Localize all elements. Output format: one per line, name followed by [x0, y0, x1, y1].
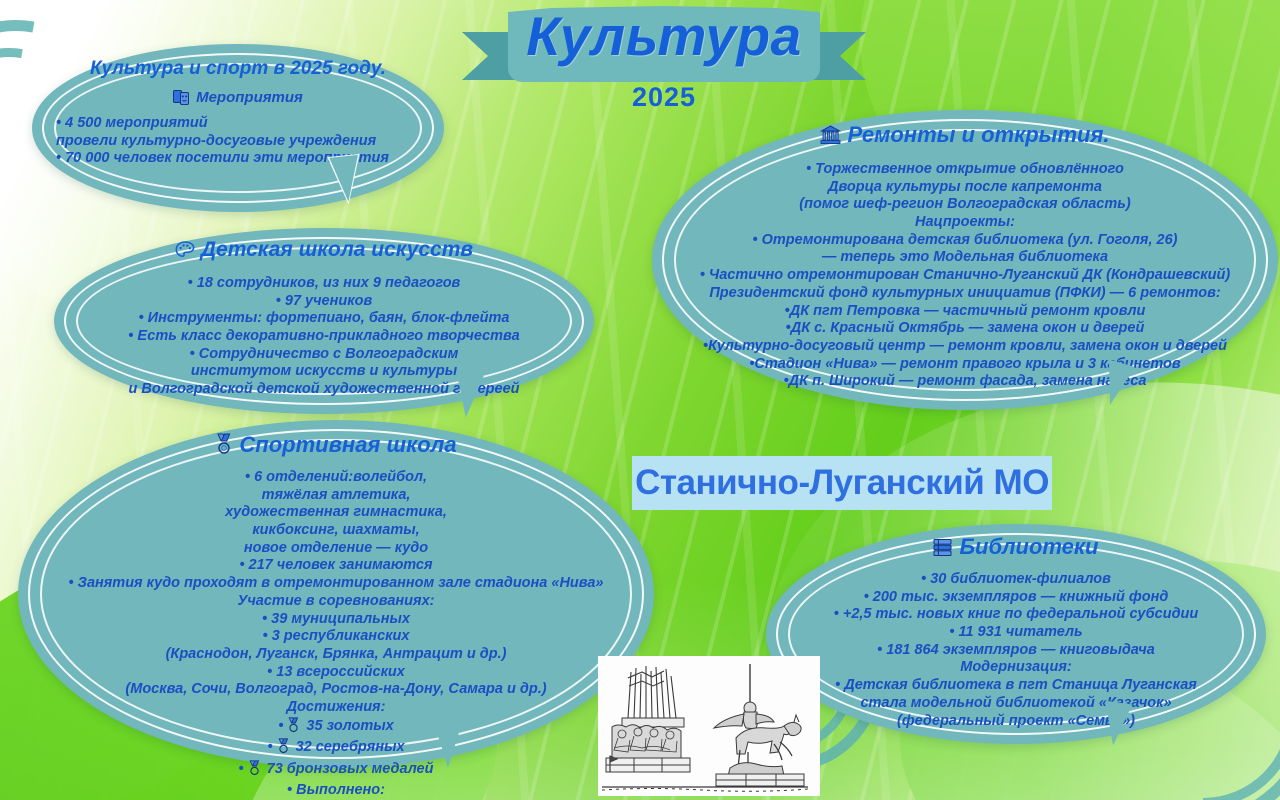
memorial-monument-illustration [598, 656, 820, 796]
bubble-repairs-line: (помог шеф-регион Волгоградская область) [652, 196, 1278, 214]
medal-label: 73 бронзовых медалей [267, 761, 434, 777]
bubble-sport-school-line: Достижения: [18, 699, 654, 717]
bubble-libraries-line: • 200 тыс. экземпляров — книжный фонд [766, 589, 1266, 607]
medal-row: • 73 бронзовых медалей [18, 760, 654, 782]
bubble-repairs-heading: Ремонты и открытия. [652, 110, 1278, 151]
bubble-repairs-line: • Торжественное открытие обновлённого [652, 161, 1278, 179]
bubble-sport-school-line: (Москва, Сочи, Волгоград, Ростов-на-Дону… [18, 681, 654, 699]
bubble-libraries-line: стала модельной библиотекой «Казачок» [766, 695, 1266, 713]
bubble-sport-school-line: • 39 муниципальных [18, 611, 654, 629]
bubble-libraries-line: • +2,5 тыс. новых книг по федеральной су… [766, 606, 1266, 624]
bubble-art-school-line: • 18 сотрудников, из них 9 педагогов [54, 275, 594, 293]
medal-label: 32 серебряных [296, 739, 405, 755]
bubble-sport-school-line: Участие в соревнованиях: [18, 593, 654, 611]
bubble-art-school-heading-text: Детская школа искусств [201, 238, 473, 261]
bubble-art-school-line: • Сотрудничество с Волгоградским [54, 346, 594, 364]
bubble-libraries-heading: Библиотеки [766, 524, 1266, 563]
bubble-art-school-line: • 97 учеников [54, 293, 594, 311]
bubble-libraries-line: • 181 864 экземпляров — книговыдача [766, 642, 1266, 660]
theater-masks-icon [173, 90, 190, 109]
bubble-repairs-line: • Частично отремонтирован Станично-Луган… [652, 267, 1278, 285]
bubble-art-school-line: • Инструменты: фортепиано, баян, блок-фл… [54, 310, 594, 328]
bubble-events-line: провели культурно-досуговые учреждения [56, 133, 444, 151]
bubble-art-school-heading: Детская школа искусств [54, 228, 594, 265]
medal-row: • 32 серебряных [18, 738, 654, 760]
bubble-repairs-line: Дворца культуры после капремонта [652, 179, 1278, 197]
bubble-sport-school-line: художественная гимнастика, [18, 504, 654, 522]
bubble-libraries-line: Модернизация: [766, 659, 1266, 677]
medal-icon [248, 760, 261, 782]
bubble-libraries-body: • 30 библиотек-филиалов • 200 тыс. экзем… [766, 571, 1266, 730]
bubble-libraries-line: (федеральный проект «Семья») [766, 713, 1266, 731]
bubble-repairs-line: •ДК п. Широкий — ремонт фасада, замена н… [652, 373, 1278, 391]
bubble-sport-school-line: новое отделение — кудо [18, 540, 654, 558]
bubble-art-school-body: • 18 сотрудников, из них 9 педагогов • 9… [54, 275, 594, 399]
bubble-repairs-line: •ДК пгт Петровка — частичный ремонт кров… [652, 303, 1278, 321]
municipality-label-text: Станично-Луганский МО [635, 463, 1049, 503]
bubble-repairs-line: Президентский фонд культурных инициатив … [652, 285, 1278, 303]
bubble-libraries-tail [1100, 701, 1133, 748]
bubble-repairs-line: Нацпроекты: [652, 214, 1278, 232]
bubble-repairs-line: •Стадион «Нива» — ремонт правого крыла и… [652, 356, 1278, 374]
bubble-sport-school-line: тяжёлая атлетика, [18, 487, 654, 505]
poster-year: 2025 [462, 82, 866, 113]
medal-icon [287, 717, 300, 739]
bubble-sport-school-tail [434, 724, 461, 767]
classical-building-icon [820, 125, 841, 151]
bubble-sport-school-footer-line: • Выполнено: [18, 782, 654, 800]
artist-palette-icon [175, 241, 195, 265]
bubble-libraries-line: • 30 библиотек-филиалов [766, 571, 1266, 589]
bubble-sport-school-heading: Спортивная школа [18, 420, 654, 461]
ribbon-banner: Культура 2025 [462, 6, 866, 88]
bubble-art-school-line: институтом искусств и культуры [54, 363, 594, 381]
bubble-libraries-heading-text: Библиотеки [959, 534, 1098, 559]
bubble-events-line: • 70 000 человек посетили эти мероприяти… [56, 150, 444, 168]
bubble-sport-school-line: • Занятия кудо проходят в отремонтирован… [18, 575, 654, 593]
sports-medal-icon [215, 433, 233, 461]
bubble-sport-school: Спортивная школа • 6 отделений:волейбол,… [18, 420, 654, 768]
bubble-sport-school-line: • 6 отделений:волейбол, [18, 469, 654, 487]
bubble-libraries-line: • 11 931 читатель [766, 624, 1266, 642]
bubble-events-subheading: Мероприятия [32, 89, 444, 109]
bubble-repairs-line: — теперь это Модельная библиотека [652, 249, 1278, 267]
bubble-sport-school-heading-text: Спортивная школа [239, 432, 456, 457]
bubble-art-school: Детская школа искусств • 18 сотрудников,… [54, 228, 594, 414]
bubble-events-tail [329, 155, 362, 203]
bubble-repairs-line: •Культурно-досуговый центр — ремонт кров… [652, 338, 1278, 356]
bubble-events-body: • 4 500 мероприятий провели культурно-до… [32, 115, 444, 168]
bubble-events-line: • 4 500 мероприятий [56, 115, 444, 133]
municipality-label: Станично-Луганский МО [632, 456, 1052, 510]
bubble-sport-school-line: (Краснодон, Луганск, Брянка, Антрацит и … [18, 646, 654, 664]
bubble-art-school-line: и Волгоградской детской художественной г… [54, 381, 594, 399]
bubble-repairs-body: • Торжественное открытие обновлённого Дв… [652, 161, 1278, 391]
poster-canvas: Культура 2025 Культура и спорт в 2025 го… [0, 0, 1280, 800]
medal-row: • 35 золотых [18, 717, 654, 739]
bubble-events-subheading-text: Мероприятия [196, 89, 303, 106]
bubble-events-heading: Культура и спорт в 2025 году. [32, 44, 444, 80]
bubble-sport-school-body: • 6 отделений:волейбол, тяжёлая атлетика… [18, 469, 654, 800]
bubble-repairs-line: •ДК с. Красный Октябрь — замена окон и д… [652, 320, 1278, 338]
medal-label: 35 золотых [306, 718, 393, 734]
bubble-art-school-tail [452, 373, 484, 419]
bubble-art-school-line: • Есть класс декоративно-прикладного тво… [54, 328, 594, 346]
bubble-sport-school-line: • 3 республиканских [18, 628, 654, 646]
bubble-repairs: Ремонты и открытия. • Торжественное откр… [652, 110, 1278, 410]
bubble-sport-school-line: • 13 всероссийских [18, 664, 654, 682]
stacked-books-icon [933, 537, 953, 563]
bubble-sport-school-line: • 217 человек занимаются [18, 557, 654, 575]
poster-title: Культура [462, 4, 866, 68]
bubble-events: Культура и спорт в 2025 году. Мероприяти… [32, 44, 444, 212]
bubble-libraries: Библиотеки • 30 библиотек-филиалов • 200… [766, 524, 1266, 744]
bubble-repairs-heading-text: Ремонты и открытия. [847, 122, 1109, 147]
bubble-sport-school-line: кикбоксинг, шахматы, [18, 522, 654, 540]
bubble-repairs-line: • Отремонтирована детская библиотека (ул… [652, 232, 1278, 250]
medal-icon [277, 738, 290, 760]
bubble-libraries-line: • Детская библиотека в пгт Станица Луган… [766, 677, 1266, 695]
